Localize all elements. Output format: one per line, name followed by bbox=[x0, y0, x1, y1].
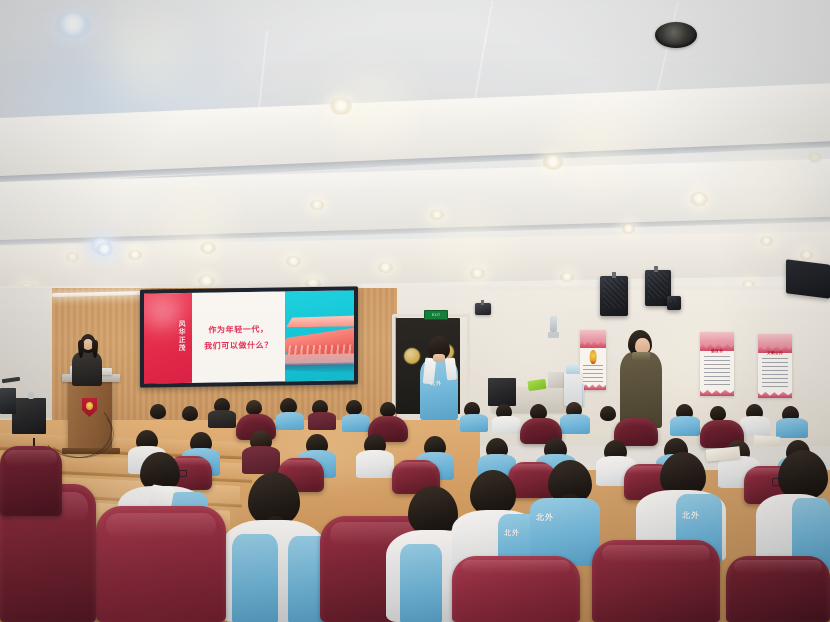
audience-torso bbox=[242, 446, 280, 474]
audience-torso bbox=[460, 414, 488, 432]
downlight-icon bbox=[560, 272, 574, 282]
seat[interactable] bbox=[726, 556, 830, 622]
downlight-icon bbox=[622, 224, 635, 234]
downlight-icon bbox=[200, 242, 216, 254]
audience-head bbox=[246, 400, 262, 415]
speaker-bracket bbox=[481, 300, 484, 305]
poster-footer-ornament bbox=[700, 387, 734, 396]
audience-head bbox=[408, 486, 458, 536]
downlight-icon bbox=[310, 200, 324, 210]
ceiling-light-pool bbox=[70, 0, 220, 110]
slide-left-panel: 风华正茂 bbox=[144, 293, 192, 384]
audience-vest bbox=[400, 544, 442, 622]
ceiling-spot-icon bbox=[655, 22, 697, 48]
ceiling-light-pool bbox=[700, 130, 830, 240]
audience-head bbox=[380, 402, 396, 417]
seat[interactable] bbox=[452, 556, 580, 622]
seat-highlight bbox=[734, 560, 821, 575]
standing-student-vest-text: 北外 bbox=[430, 380, 442, 387]
audience-torso bbox=[670, 416, 700, 436]
glasses-icon bbox=[772, 478, 786, 486]
audience-torso bbox=[342, 414, 370, 432]
speaker-bracket bbox=[654, 266, 658, 272]
seat-highlight bbox=[396, 462, 436, 469]
downlight-icon bbox=[690, 192, 708, 206]
seat[interactable] bbox=[592, 540, 720, 622]
door-light-reflection-icon bbox=[404, 348, 420, 364]
poster-header bbox=[580, 330, 606, 348]
wall-poster: 文明公约 bbox=[758, 334, 792, 398]
building-shadow bbox=[285, 362, 354, 374]
downlight-icon bbox=[128, 250, 142, 260]
audience-torso bbox=[492, 416, 520, 434]
downlight-icon bbox=[96, 243, 113, 256]
standing-student-collar bbox=[445, 358, 457, 381]
ceiling-light-pool bbox=[520, 90, 670, 200]
standing-student-neck bbox=[433, 354, 445, 362]
av-equipment-case bbox=[488, 378, 516, 406]
slide-center-panel: 作为年轻一代， 我们可以做什么？ bbox=[192, 291, 284, 382]
speaker-bracket bbox=[612, 272, 616, 278]
ceiling-light-pool bbox=[300, 60, 440, 160]
teacher-collar bbox=[632, 352, 650, 360]
speaker-subbox-icon bbox=[667, 296, 681, 310]
wall-monitor bbox=[786, 259, 830, 298]
audience-vest-text: 北外 bbox=[536, 512, 554, 523]
wall-fixture-icon bbox=[550, 316, 557, 332]
poster-footer-ornament bbox=[758, 389, 792, 398]
downlight-icon bbox=[470, 268, 485, 279]
paper-sheet bbox=[754, 435, 781, 447]
ceiling-light-pool bbox=[400, 200, 540, 290]
seat[interactable] bbox=[0, 446, 62, 516]
dispenser-bottle bbox=[566, 364, 580, 374]
downlight-icon bbox=[330, 98, 352, 115]
audience-head bbox=[182, 406, 198, 421]
seat-highlight bbox=[5, 450, 57, 465]
seat-highlight bbox=[282, 460, 321, 467]
seat-highlight bbox=[512, 464, 552, 472]
slide-vertical-title: 风华正茂 bbox=[178, 320, 185, 352]
water-dispenser bbox=[564, 372, 582, 406]
downlight-icon bbox=[286, 256, 301, 267]
audience-torso bbox=[356, 450, 394, 478]
downlight-icon bbox=[543, 155, 563, 170]
presenter-torso bbox=[72, 352, 102, 386]
audience-torso bbox=[308, 412, 336, 430]
ceiling-light-pool bbox=[130, 180, 260, 270]
audience-vest bbox=[232, 534, 278, 622]
audience-torso bbox=[776, 418, 808, 438]
seat-highlight bbox=[602, 545, 710, 563]
teacher-body bbox=[620, 352, 662, 428]
auditorium-photo: 风华正茂 作为年轻一代， 我们可以做什么？ EXIT bbox=[0, 0, 830, 622]
audience-head bbox=[778, 450, 828, 500]
audience-vest-text: 北外 bbox=[682, 510, 700, 521]
poster-body-text bbox=[704, 356, 730, 387]
audience-head bbox=[710, 406, 726, 421]
audience-vest-text: 北外 bbox=[504, 528, 520, 538]
glasses-icon bbox=[174, 470, 187, 477]
audience-head bbox=[600, 406, 616, 421]
downlight-icon bbox=[66, 252, 79, 262]
slide-right-panel bbox=[285, 290, 354, 381]
slide-line-1: 作为年轻一代， bbox=[208, 323, 268, 335]
slide-content: 风华正茂 作为年轻一代， 我们可以做什么？ bbox=[144, 290, 354, 383]
wall-poster: 倡议书 bbox=[700, 332, 734, 396]
downlight-icon bbox=[378, 262, 393, 273]
wall-fixture-icon bbox=[548, 332, 559, 338]
audience-torso bbox=[560, 414, 590, 434]
wall-speaker-icon bbox=[600, 276, 628, 316]
seat-highlight bbox=[462, 560, 570, 575]
projection-screen: 风华正茂 作为年轻一代， 我们可以做什么？ bbox=[140, 286, 358, 387]
downlight-icon bbox=[55, 12, 91, 38]
seat[interactable] bbox=[96, 506, 226, 622]
audience-torso bbox=[740, 416, 770, 436]
audience-head bbox=[346, 400, 362, 415]
building-roof-illustration bbox=[285, 315, 354, 327]
downlight-icon bbox=[808, 152, 822, 163]
seat-highlight bbox=[106, 513, 215, 539]
downlight-icon bbox=[430, 210, 444, 220]
downlight-icon bbox=[760, 236, 773, 246]
audience-torso bbox=[276, 412, 304, 430]
poster-emblem-icon bbox=[590, 350, 597, 363]
left-equipment-rack bbox=[0, 388, 16, 414]
downlight-icon bbox=[800, 250, 813, 260]
exit-sign-label: EXIT bbox=[432, 313, 441, 317]
poster-body-text bbox=[762, 358, 788, 389]
audience-head bbox=[150, 404, 166, 419]
mic-on-speaker-icon bbox=[28, 392, 34, 399]
slide-line-2: 我们可以做什么？ bbox=[204, 339, 273, 351]
poster-title: 倡议书 bbox=[700, 349, 734, 354]
audience-torso bbox=[208, 410, 236, 428]
exit-sign: EXIT bbox=[424, 310, 448, 320]
poster-title: 文明公约 bbox=[758, 351, 792, 356]
